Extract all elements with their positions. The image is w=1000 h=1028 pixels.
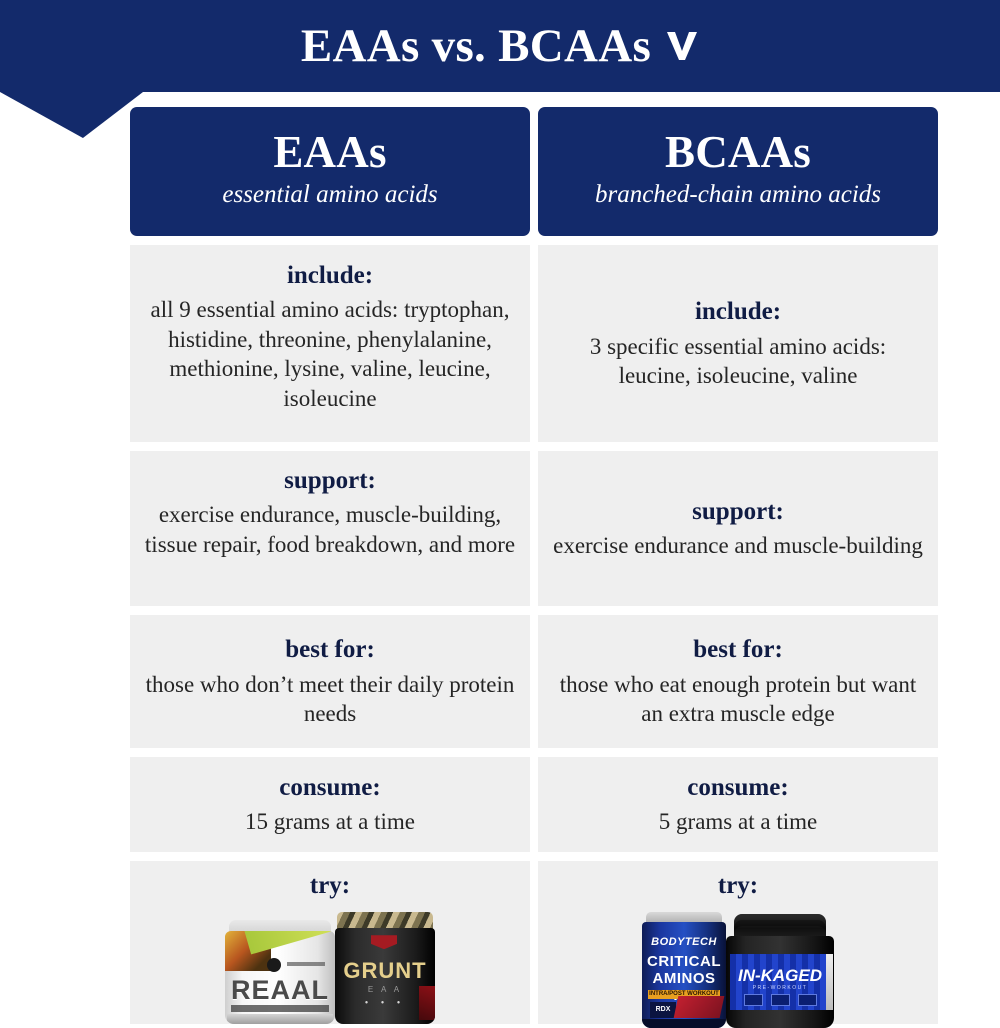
tub-body: BODYTECH CRITICAL AMINOS XT INTRA/POST W… <box>642 922 726 1028</box>
column-subtitle-bcaas: branched-chain amino acids <box>595 181 881 210</box>
product-list-bcaas: BODYTECH CRITICAL AMINOS XT INTRA/POST W… <box>642 912 834 1028</box>
page-title: EAAs vs. BCAAs <box>301 23 699 70</box>
cell-eaas-consume: consume: 15 grams at a time <box>130 757 530 852</box>
cell-text: 3 specific essential amino acids: leucin… <box>552 332 924 391</box>
product-badge <box>771 994 790 1006</box>
column-title-bcaas: BCAAs <box>665 129 811 177</box>
v-logo-icon <box>665 29 699 63</box>
cell-label: consume: <box>279 772 380 803</box>
cell-label: support: <box>284 465 376 496</box>
product-name-reaal: REAAL <box>225 975 335 1006</box>
brand-medal-icon <box>267 958 281 972</box>
table-header-row: EAAs essential amino acids BCAAs branche… <box>130 107 938 236</box>
cell-eaas-include: include: all 9 essential amino acids: tr… <box>130 245 530 442</box>
cell-label: include: <box>695 296 781 327</box>
comparison-table: EAAs essential amino acids BCAAs branche… <box>130 107 938 1024</box>
cell-text: 15 grams at a time <box>245 807 415 836</box>
cell-label: best for: <box>285 634 375 665</box>
cell-label: try: <box>718 870 758 901</box>
product-badge-row <box>726 994 834 1006</box>
column-header-bcaas: BCAAs branched-chain amino acids <box>538 107 938 236</box>
cell-text: exercise endurance, muscle-building, tis… <box>144 500 516 559</box>
column-subtitle-eaas: essential amino acids <box>222 181 437 210</box>
green-swoosh-graphic <box>243 931 335 954</box>
cell-label: best for: <box>693 634 783 665</box>
tub-body: GRUNT E A A • • • <box>335 928 435 1024</box>
header-bar: EAAs vs. BCAAs <box>0 0 1000 92</box>
in-kaged-tub-icon[interactable]: IN-KAGED PRE-WORKOUT <box>726 914 834 1028</box>
product-badge-rdx: RDX <box>650 1002 676 1018</box>
product-badge <box>744 994 763 1006</box>
cell-label: include: <box>287 260 373 291</box>
product-brand-bodytech: BODYTECH <box>642 936 726 948</box>
table-row: consume: 15 grams at a time consume: 5 g… <box>130 757 938 852</box>
header-pointer-triangle <box>0 92 143 138</box>
grunt-tub-icon[interactable]: GRUNT E A A • • • <box>335 912 435 1024</box>
cell-text: those who don’t meet their daily protein… <box>144 670 516 729</box>
cell-bcaas-best-for: best for: those who eat enough protein b… <box>538 615 938 748</box>
cell-text: those who eat enough protein but want an… <box>552 670 924 729</box>
tub-body: IN-KAGED PRE-WORKOUT <box>726 936 834 1028</box>
cell-bcaas-support: support: exercise endurance and muscle-b… <box>538 451 938 606</box>
column-header-eaas: EAAs essential amino acids <box>130 107 530 236</box>
cell-label: consume: <box>687 772 788 803</box>
cell-text: 5 grams at a time <box>659 807 817 836</box>
cell-text: all 9 essential amino acids: tryptophan,… <box>144 295 516 413</box>
table-row: best for: those who don’t meet their dai… <box>130 615 938 748</box>
page-title-text: EAAs vs. BCAAs <box>301 23 651 70</box>
brand-tagline-bar <box>287 962 325 966</box>
cell-eaas-best-for: best for: those who don’t meet their dai… <box>130 615 530 748</box>
product-name-grunt: GRUNT <box>335 958 435 984</box>
table-row: support: exercise endurance, muscle-buil… <box>130 451 938 606</box>
redcon1-shield-icon <box>371 935 397 949</box>
tub-body: REAAL <box>225 931 335 1024</box>
column-title-eaas: EAAs <box>273 129 386 177</box>
nutrition-panel-graphic <box>826 954 833 1010</box>
product-name-line1: CRITICAL <box>642 953 726 970</box>
cell-text: exercise endurance and muscle-building <box>553 531 923 560</box>
cell-bcaas-consume: consume: 5 grams at a time <box>538 757 938 852</box>
table-row: include: all 9 essential amino acids: tr… <box>130 245 938 442</box>
product-tagline-strip <box>231 1005 329 1012</box>
tub-base <box>642 1019 726 1028</box>
product-list-eaas: REAAL GRUNT E A A • • • <box>225 912 435 1024</box>
cell-label: try: <box>310 870 350 901</box>
cell-bcaas-include: include: 3 specific essential amino acid… <box>538 245 938 442</box>
cell-label: support: <box>692 496 784 527</box>
product-badge <box>798 994 817 1006</box>
tub-base <box>227 1014 333 1024</box>
product-sub-in-kaged: PRE-WORKOUT <box>726 985 834 991</box>
cell-eaas-support: support: exercise endurance, muscle-buil… <box>130 451 530 606</box>
red-corner-graphic <box>419 986 435 1020</box>
bodytech-critical-aminos-xt-tub-icon[interactable]: BODYTECH CRITICAL AMINOS XT INTRA/POST W… <box>642 912 726 1028</box>
product-name-in-kaged: IN-KAGED <box>726 966 834 986</box>
reaal-tub-icon[interactable]: REAAL <box>225 920 335 1024</box>
